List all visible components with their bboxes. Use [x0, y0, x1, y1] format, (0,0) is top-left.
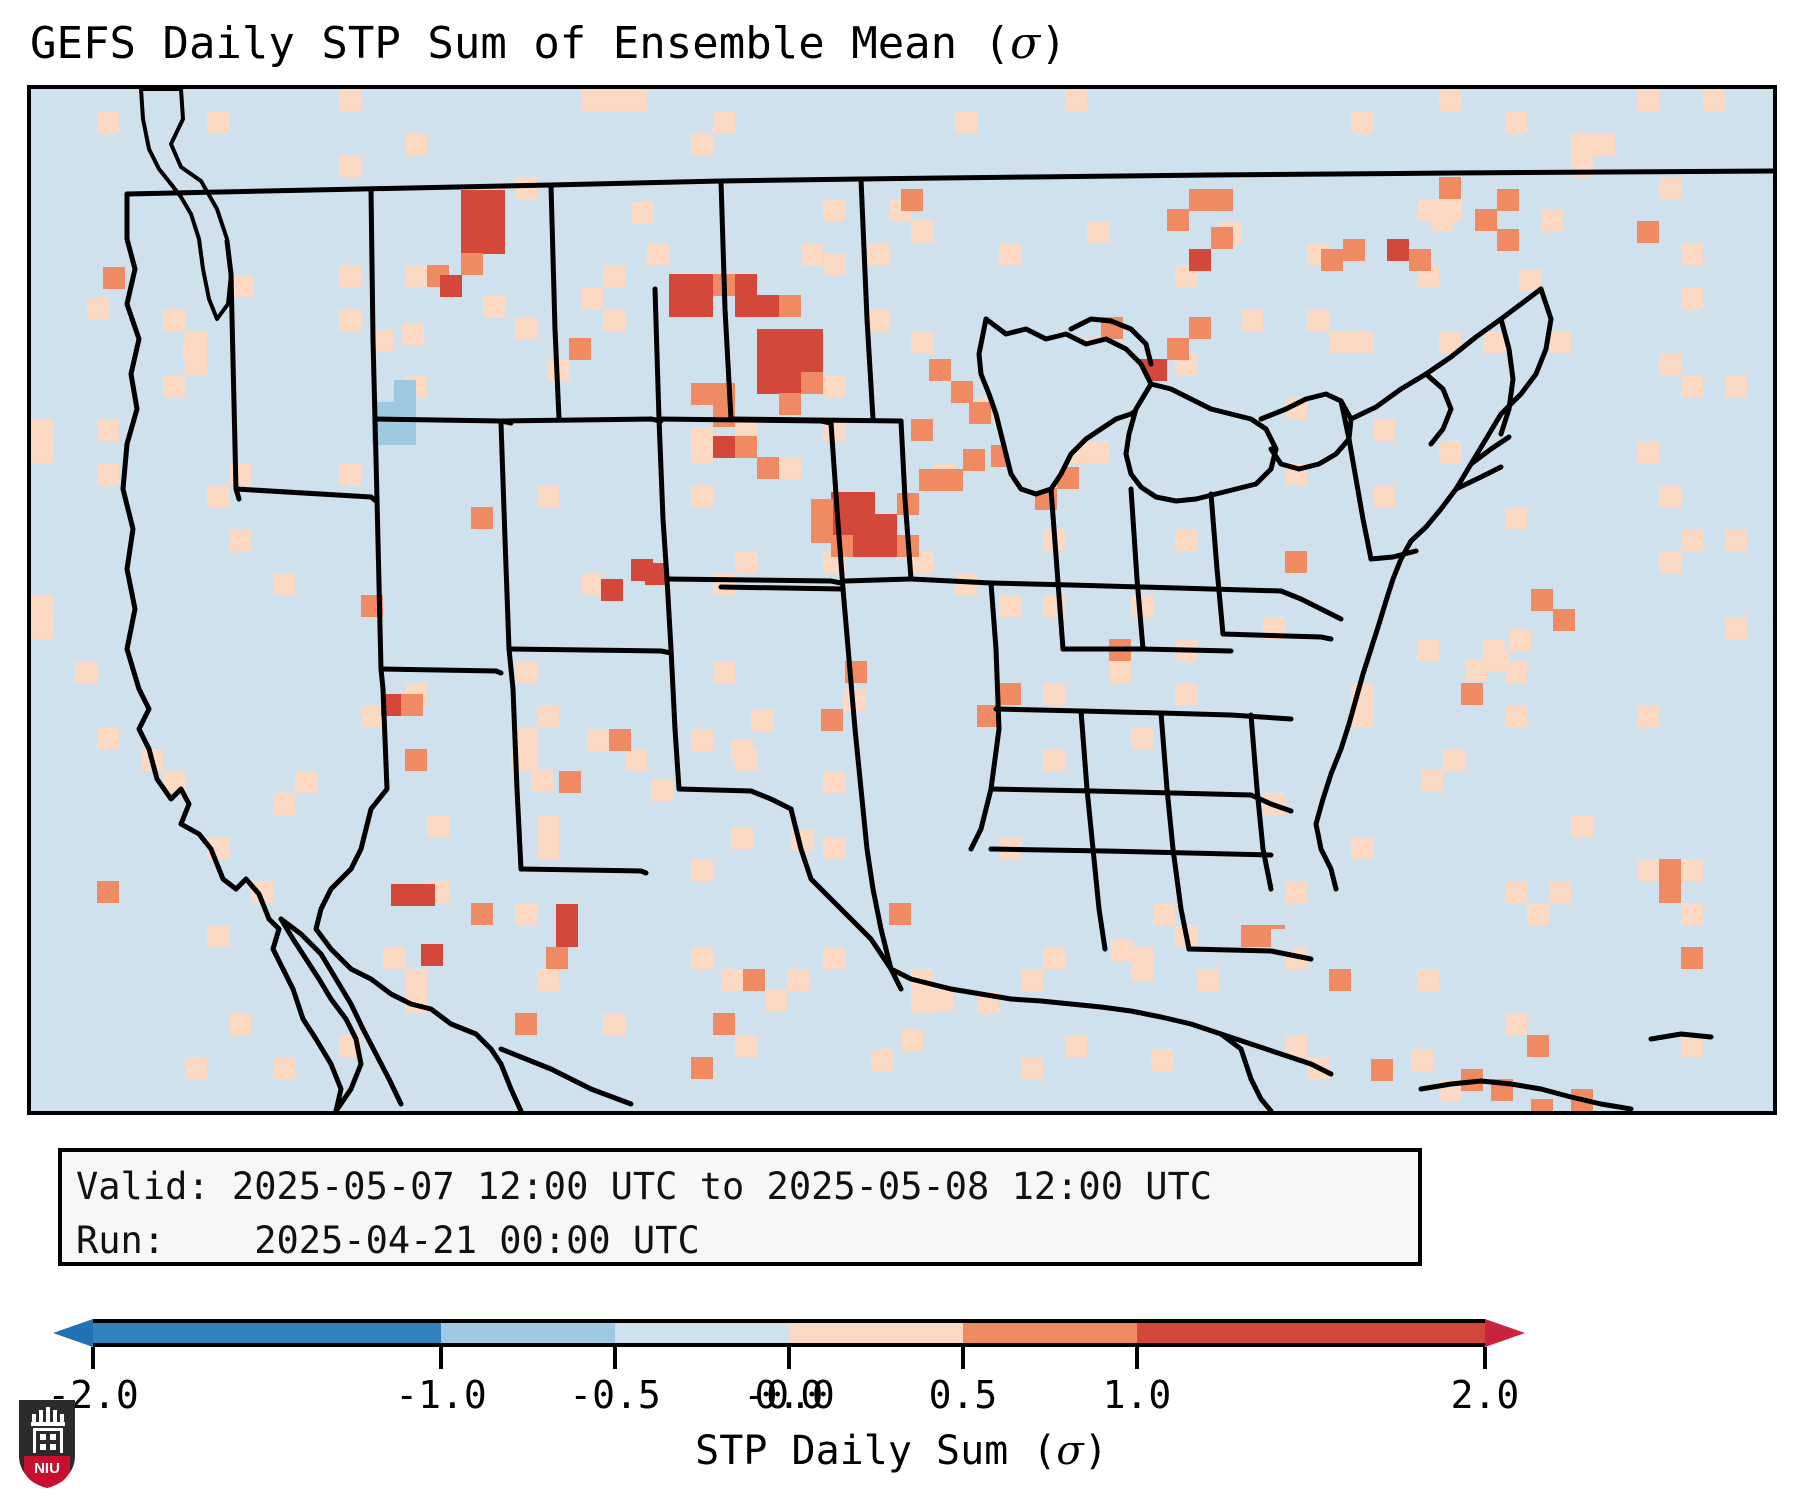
- stp-cell: [691, 133, 713, 155]
- stp-cell: [1175, 529, 1197, 551]
- stp-cell: [483, 232, 505, 254]
- stp-cell: [537, 969, 559, 991]
- stp-cell: [632, 202, 654, 224]
- stp-cell: [383, 947, 405, 969]
- stp-cell: [1549, 331, 1571, 353]
- stp-cell: [471, 507, 493, 529]
- stp-cell: [483, 190, 505, 212]
- stp-cell: [713, 661, 735, 683]
- stp-cell: [461, 253, 483, 275]
- stp-cell: [889, 903, 911, 925]
- valid-run-info-box: Valid: 2025-05-07 12:00 UTC to 2025-05-0…: [58, 1148, 1422, 1266]
- stp-cell: [757, 329, 779, 351]
- stp-cell: [1065, 89, 1087, 111]
- stp-cell: [394, 423, 416, 445]
- stp-cell: [1351, 111, 1373, 133]
- stp-cell: [929, 359, 951, 381]
- cblabel-suffix: ): [1084, 1428, 1108, 1474]
- stp-cell: [1271, 929, 1293, 951]
- stp-cell: [651, 779, 673, 801]
- stp-cell: [1321, 249, 1343, 271]
- colorbar-tick-label-6: 1.0: [1103, 1373, 1172, 1417]
- stp-cell: [1329, 331, 1351, 353]
- stp-cell: [207, 925, 229, 947]
- stp-cell: [207, 111, 229, 133]
- stp-cell: [1659, 375, 1681, 397]
- colorbar-segment-0: [93, 1319, 441, 1347]
- stp-cell: [1167, 209, 1189, 231]
- stp-cell: [207, 485, 229, 507]
- stp-cell: [603, 89, 625, 111]
- stp-cell: [1637, 859, 1659, 881]
- stp-cell: [1043, 749, 1065, 771]
- stp-cell: [87, 297, 109, 319]
- stp-cell: [823, 771, 845, 793]
- stp-cell: [1431, 209, 1453, 231]
- stp-cell: [1189, 189, 1211, 211]
- colorbar-segment-6: [1137, 1319, 1485, 1347]
- stp-cell: [743, 969, 765, 991]
- stp-cell: [1417, 969, 1439, 991]
- stp-cell: [1531, 589, 1553, 611]
- stp-cell: [801, 244, 823, 266]
- cblabel-prefix: STP Daily Sum (: [695, 1428, 1056, 1474]
- stp-cell: [1387, 239, 1409, 261]
- stp-cell: [1261, 719, 1283, 741]
- stp-cell: [1681, 529, 1703, 551]
- stp-cell: [515, 317, 537, 339]
- stp-cell: [97, 111, 119, 133]
- stp-cell: [1497, 229, 1519, 251]
- stp-cell: [1175, 683, 1197, 705]
- stp-cell: [556, 904, 578, 926]
- stp-cell: [779, 372, 801, 394]
- stp-cell: [757, 372, 779, 394]
- stp-cell: [779, 329, 801, 351]
- stp-cell: [1439, 89, 1461, 111]
- stp-cell: [1703, 89, 1725, 111]
- stp-cell: [1659, 881, 1681, 903]
- stp-cell: [713, 925, 735, 947]
- stp-cell: [229, 529, 251, 551]
- stp-cell: [1487, 649, 1509, 671]
- stp-cell: [402, 323, 424, 345]
- stp-cell: [1659, 485, 1681, 507]
- colorbar-tick-label-7: 2.0: [1451, 1373, 1520, 1417]
- stp-cell: [779, 457, 801, 479]
- stp-cell: [824, 253, 846, 275]
- stp-cell: [1373, 419, 1395, 441]
- stp-cell: [273, 793, 295, 815]
- stp-cell: [1571, 815, 1593, 837]
- stp-cell: [831, 514, 853, 536]
- stp-cell: [691, 947, 713, 969]
- colorbar-tick-1: [439, 1347, 443, 1369]
- stp-cell: [757, 295, 779, 317]
- stp-cell: [163, 375, 185, 397]
- colorbar-tick-6: [1135, 1347, 1139, 1369]
- stp-cell: [339, 463, 361, 485]
- title-sigma-symbol: σ: [1010, 18, 1040, 69]
- stp-cell: [1131, 959, 1153, 981]
- stp-cell: [713, 573, 735, 595]
- stp-cell: [603, 309, 625, 331]
- stp-cell: [295, 771, 317, 793]
- stp-cell: [391, 884, 413, 906]
- stp-cell: [999, 595, 1021, 617]
- stp-cell: [394, 380, 416, 402]
- valid-time-line: Valid: 2025-05-07 12:00 UTC to 2025-05-0…: [76, 1160, 1404, 1214]
- stp-cell: [1285, 1035, 1307, 1057]
- colorbar-gradient-strip[interactable]: [93, 1319, 1485, 1347]
- stp-cell: [735, 551, 757, 573]
- stp-cell: [911, 331, 933, 353]
- page-title: GEFS Daily STP Sum of Ensemble Mean (σ): [30, 18, 1067, 69]
- stp-cell: [1527, 903, 1549, 925]
- stp-cell: [1527, 1035, 1549, 1057]
- stp-cell: [867, 243, 889, 265]
- colorbar-tick-5: [961, 1347, 965, 1369]
- colorbar[interactable]: -2.0-1.0-0.5-0.00.00.51.02.0: [0, 1315, 1803, 1375]
- stp-cell: [1043, 947, 1065, 969]
- stp-cell: [515, 727, 537, 749]
- colorbar-tick-label-2: -0.5: [569, 1373, 661, 1417]
- stp-cell: [1505, 507, 1527, 529]
- stp-cell: [1725, 617, 1747, 639]
- stp-cell: [801, 372, 823, 394]
- stp-cell: [1505, 111, 1527, 133]
- colorbar-extend-low-arrow: [53, 1319, 93, 1347]
- stp-cell: [581, 287, 603, 309]
- stp-cell: [955, 111, 977, 133]
- stp-cell: [483, 296, 505, 318]
- stp-cell: [1371, 1059, 1393, 1081]
- stp-cell: [1285, 881, 1307, 903]
- stp-cell: [440, 275, 462, 297]
- stp-cell: [625, 749, 647, 771]
- colorbar-tick-label-5: 0.5: [929, 1373, 998, 1417]
- stp-cell: [483, 211, 505, 233]
- stp-cell: [811, 521, 833, 543]
- stp-cell: [1497, 189, 1519, 211]
- stp-cell: [515, 429, 537, 451]
- stp-cell: [581, 573, 603, 595]
- stp-cell: [1725, 375, 1747, 397]
- stp-cell: [1109, 661, 1131, 683]
- stp-cell: [1189, 317, 1211, 339]
- stp-cell: [931, 989, 953, 1011]
- stp-cell: [405, 133, 427, 155]
- stp-cell: [669, 295, 691, 317]
- stp-cell: [1151, 1049, 1173, 1071]
- stp-cell: [603, 265, 625, 287]
- stp-cell: [537, 815, 559, 837]
- stp-cell: [1111, 939, 1133, 961]
- stp-cell: [97, 419, 119, 441]
- stp-cell: [1681, 243, 1703, 265]
- stp-cell: [1373, 485, 1395, 507]
- stp-cell: [31, 419, 53, 441]
- stp-cell: [1475, 209, 1497, 231]
- title-prefix: GEFS Daily STP Sum of Ensemble Mean (: [30, 18, 1010, 69]
- stp-cell: [1189, 249, 1211, 271]
- stp-cell: [97, 881, 119, 903]
- stp-cell: [625, 89, 647, 111]
- stp-cell: [713, 1013, 735, 1035]
- stp-cell: [185, 1057, 207, 1079]
- stp-cell: [515, 903, 537, 925]
- stp-cell: [1087, 221, 1109, 243]
- stp-cell: [471, 903, 493, 925]
- stp-cell: [1725, 529, 1747, 551]
- stp-cell: [1505, 1013, 1527, 1035]
- stp-cell: [963, 449, 985, 471]
- stp-cell: [999, 243, 1021, 265]
- stp-cell: [821, 709, 843, 731]
- colorbar-tick-label-4: 0.0: [755, 1373, 824, 1417]
- stp-cell: [691, 729, 713, 751]
- stp-cell: [901, 189, 923, 211]
- stp-cell: [1131, 727, 1153, 749]
- stp-cell: [1411, 1049, 1433, 1071]
- stp-cell: [1637, 89, 1659, 111]
- stp-cell: [421, 944, 443, 966]
- stp-cell: [1571, 133, 1593, 155]
- stp-cell: [941, 469, 963, 491]
- stp-cell: [537, 485, 559, 507]
- map-plot-area[interactable]: [27, 85, 1777, 1115]
- stp-cell: [779, 295, 801, 317]
- stp-cell: [603, 1013, 625, 1035]
- stp-cell: [531, 769, 553, 791]
- stp-cell: [647, 243, 669, 265]
- stp-cell: [405, 265, 427, 287]
- stp-cell: [787, 969, 809, 991]
- stp-cell: [601, 579, 623, 601]
- stp-cell: [1439, 441, 1461, 463]
- stp-cell: [339, 155, 361, 177]
- stp-cell: [273, 1057, 295, 1079]
- stp-cell: [515, 1013, 537, 1035]
- stp-cell: [735, 295, 757, 317]
- colorbar-segment-4: [789, 1319, 963, 1347]
- stp-cell: [811, 499, 833, 521]
- stp-cell: [721, 969, 743, 991]
- stp-cell: [1681, 287, 1703, 309]
- stp-cell: [875, 535, 897, 557]
- stp-cell: [251, 573, 273, 595]
- stp-cell: [1443, 749, 1465, 771]
- stp-cell: [339, 265, 361, 287]
- stp-cell: [163, 309, 185, 331]
- stp-cell: [461, 190, 483, 212]
- stp-cell: [1659, 859, 1681, 881]
- stp-cell: [911, 219, 933, 241]
- stp-cell: [229, 1013, 251, 1035]
- stp-cell: [413, 884, 435, 906]
- stp-cell: [691, 427, 713, 449]
- stp-cell: [735, 436, 757, 458]
- stp-cell: [427, 815, 449, 837]
- stp-cell: [1409, 249, 1431, 271]
- stp-cell: [1681, 947, 1703, 969]
- stp-cell: [713, 111, 735, 133]
- niu-logo: NIU: [16, 1398, 78, 1490]
- stp-cell: [183, 340, 205, 362]
- colorbar-segment-1: [441, 1319, 615, 1347]
- stp-cell: [1351, 837, 1373, 859]
- stp-cell: [1637, 221, 1659, 243]
- stp-cell: [537, 837, 559, 859]
- stp-cell: [1553, 609, 1575, 631]
- stp-cell: [273, 573, 295, 595]
- stp-cell: [1167, 338, 1189, 360]
- stp-cell: [779, 393, 801, 415]
- stp-cell: [691, 485, 713, 507]
- stp-cell: [1461, 683, 1483, 705]
- stp-cell: [1087, 441, 1109, 463]
- stp-cell: [1659, 177, 1681, 199]
- stp-cell: [229, 463, 251, 485]
- stp-cell: [1043, 683, 1065, 705]
- stp-cell: [853, 535, 875, 557]
- stp-cell: [1505, 881, 1527, 903]
- stp-cell: [75, 661, 97, 683]
- stp-cell: [1343, 239, 1365, 261]
- stp-cell: [1549, 881, 1571, 903]
- stp-cell: [1241, 309, 1263, 331]
- stp-cell: [823, 375, 845, 397]
- stp-cell: [969, 402, 991, 424]
- stp-cell: [1681, 859, 1703, 881]
- stp-cell: [556, 925, 578, 947]
- colorbar-segment-2: [615, 1319, 789, 1347]
- colorbar-segment-5: [963, 1319, 1137, 1347]
- stp-cell: [691, 1057, 713, 1079]
- stp-cell: [587, 729, 609, 751]
- stp-cell: [735, 1035, 757, 1057]
- stp-cell: [1541, 209, 1563, 231]
- stp-cell: [231, 275, 253, 297]
- stp-cell: [1307, 309, 1329, 331]
- stp-cell: [1329, 969, 1351, 991]
- stp-cell: [1351, 331, 1373, 353]
- stp-cell: [669, 274, 691, 296]
- stp-cell: [951, 381, 973, 403]
- stp-cell: [515, 661, 537, 683]
- stp-cell: [405, 749, 427, 771]
- stp-cell: [765, 989, 787, 1011]
- stp-cell: [1465, 659, 1487, 681]
- stp-cell: [1681, 903, 1703, 925]
- stp-cell: [1211, 189, 1233, 211]
- niu-logo-text: NIU: [34, 1460, 60, 1477]
- stp-cell: [405, 969, 427, 991]
- stp-cell: [691, 383, 713, 405]
- stp-cell: [569, 338, 591, 360]
- colorbar-tick-4: [787, 1347, 791, 1369]
- stp-cell: [1637, 441, 1659, 463]
- stp-cell: [1637, 705, 1659, 727]
- stp-cell: [1109, 89, 1131, 111]
- stp-cell: [546, 947, 568, 969]
- stp-cell: [581, 89, 603, 111]
- stp-cell: [871, 1049, 893, 1071]
- stp-cell: [1021, 969, 1043, 991]
- stp-cell: [1065, 1035, 1087, 1057]
- stp-cell: [339, 309, 361, 331]
- cblabel-sigma-symbol: σ: [1056, 1428, 1083, 1474]
- stp-cell: [461, 211, 483, 233]
- stp-cell: [757, 350, 779, 372]
- stp-cell: [757, 457, 779, 479]
- stp-cell: [731, 739, 753, 761]
- stp-cell: [875, 514, 897, 536]
- colorbar-tick-2: [613, 1347, 617, 1369]
- stp-cell: [31, 595, 53, 617]
- stp-cell: [401, 694, 423, 716]
- stp-cell: [1519, 269, 1541, 291]
- stp-cell: [853, 514, 875, 536]
- stp-cell: [461, 232, 483, 254]
- stp-cell: [691, 295, 713, 317]
- stp-cell: [559, 771, 581, 793]
- colorbar-extend-high-arrow: [1485, 1319, 1525, 1347]
- stp-cell: [31, 441, 53, 463]
- stp-cell: [691, 274, 713, 296]
- stp-cell: [779, 350, 801, 372]
- stp-cell: [823, 199, 845, 221]
- stp-cell: [751, 709, 773, 731]
- stp-cell: [823, 947, 845, 969]
- colorbar-tick-7: [1483, 1347, 1487, 1369]
- stp-cell: [1021, 1057, 1043, 1079]
- stp-cell: [691, 859, 713, 881]
- stp-cell: [1659, 551, 1681, 573]
- stp-cell: [801, 329, 823, 351]
- stp-cell: [901, 1029, 923, 1051]
- stp-cell: [1505, 705, 1527, 727]
- stp-cell: [31, 617, 53, 639]
- stp-cell: [1153, 903, 1175, 925]
- stp-cell: [823, 837, 845, 859]
- stp-cell: [1417, 639, 1439, 661]
- stp-cell: [97, 727, 119, 749]
- stp-cell: [361, 705, 383, 727]
- colorbar-axis-label: STP Daily Sum (σ): [0, 1428, 1803, 1474]
- stp-cell: [1285, 551, 1307, 573]
- stp-cell: [867, 309, 889, 331]
- stp-cell: [999, 683, 1021, 705]
- stp-cell: [1483, 331, 1505, 353]
- stp-cell: [801, 350, 823, 372]
- stp-cell: [103, 267, 125, 289]
- title-suffix: ): [1040, 18, 1067, 69]
- run-time-line: Run: 2025-04-21 00:00 UTC: [76, 1214, 1404, 1268]
- stp-cell: [1211, 227, 1233, 249]
- stp-cell: [1197, 969, 1219, 991]
- stp-cell: [713, 436, 735, 458]
- stp-cell: [731, 827, 753, 849]
- stp-cell: [1593, 133, 1615, 155]
- stp-cell: [1659, 353, 1681, 375]
- stp-cell: [1439, 177, 1461, 199]
- stp-cell: [537, 705, 559, 727]
- stp-cell: [911, 419, 933, 441]
- colorbar-tick-0: [91, 1347, 95, 1369]
- stp-cell: [889, 793, 911, 815]
- stp-cell: [735, 274, 757, 296]
